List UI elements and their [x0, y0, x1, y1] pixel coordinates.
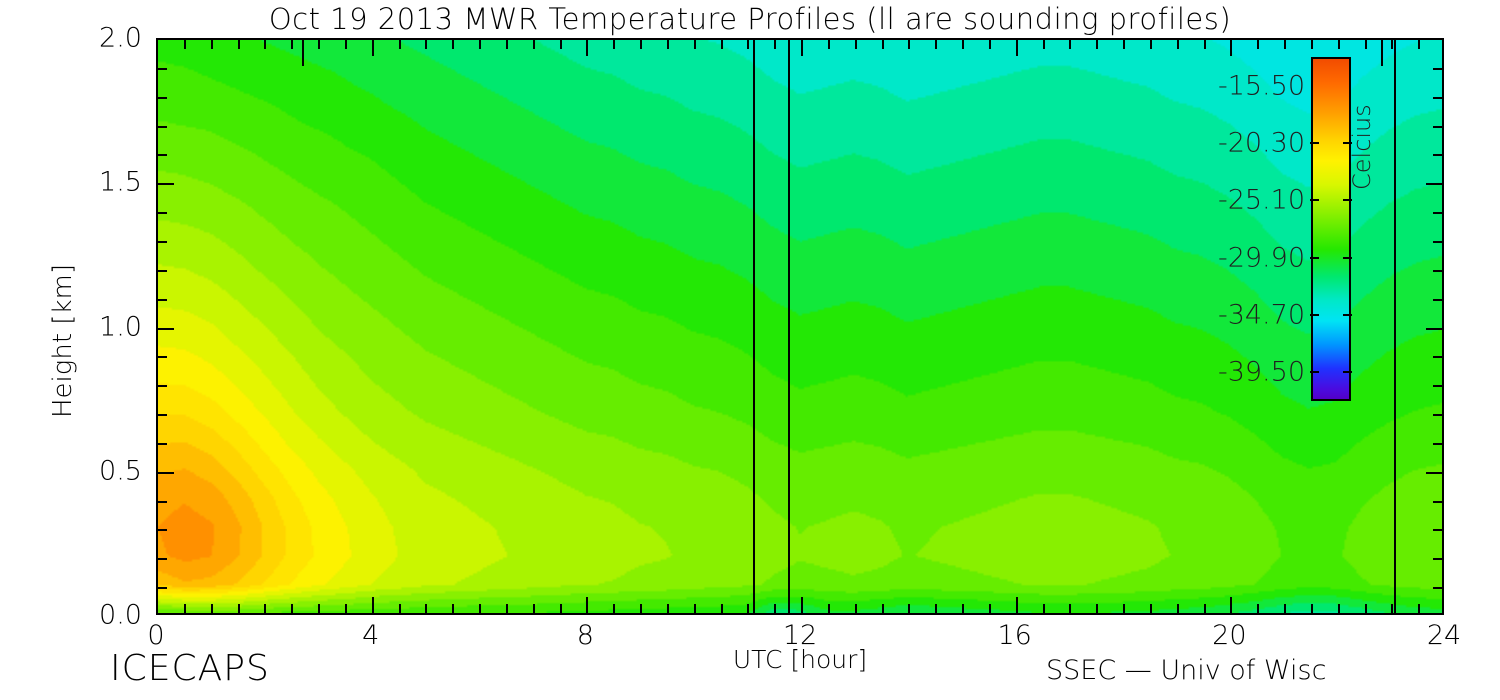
y-tick: [158, 97, 167, 99]
y-tick: [158, 270, 167, 272]
colorbar-tick: [1343, 371, 1352, 373]
x-tick-top: [1365, 40, 1367, 49]
x-tick: [1284, 604, 1286, 613]
x-tick-top: [801, 40, 803, 56]
colorbar: [1311, 57, 1351, 401]
x-tick: [828, 604, 830, 613]
colorbar-tick: [1310, 371, 1319, 373]
y-tick-label: 0.5: [60, 455, 142, 486]
temperature-profile-figure: Oct 19 2013 MWR Temperature Profiles (ll…: [0, 0, 1500, 700]
colorbar-tick-label: -20.30: [1218, 128, 1305, 159]
x-tick: [479, 604, 481, 613]
y-tick-right: [1433, 414, 1442, 416]
sounding-profile: [753, 40, 755, 615]
x-tick-top: [828, 40, 830, 49]
x-tick: [1043, 604, 1045, 613]
x-tick: [962, 604, 964, 613]
y-tick: [158, 587, 167, 589]
y-tick-right: [1433, 299, 1442, 301]
institution-credit: SSEC — Univ of Wisc: [1046, 655, 1326, 686]
y-tick: [158, 385, 167, 387]
x-tick-top: [1016, 40, 1018, 56]
y-tick-right: [1426, 328, 1442, 330]
x-tick-top: [908, 40, 910, 49]
x-tick: [1257, 604, 1259, 613]
x-tick-top: [264, 40, 266, 49]
x-tick: [1418, 604, 1420, 613]
x-tick-top: [452, 40, 454, 49]
x-tick: [640, 604, 642, 613]
x-tick: [238, 604, 240, 613]
colorbar-title: Celcius: [1348, 70, 1376, 190]
y-tick: [158, 183, 174, 185]
x-tick-top: [345, 40, 347, 49]
x-tick-top: [586, 40, 588, 56]
project-label: ICECAPS: [110, 648, 270, 689]
x-tick: [345, 604, 347, 613]
x-tick: [774, 604, 776, 613]
x-tick-top: [694, 40, 696, 49]
sounding-profile: [1394, 40, 1396, 615]
x-tick-top: [425, 40, 427, 49]
x-tick: [1016, 597, 1018, 613]
x-tick-top: [1311, 40, 1313, 49]
x-tick-top: [882, 40, 884, 49]
x-tick: [1150, 604, 1152, 613]
x-tick-top: [1177, 40, 1179, 49]
x-tick-top: [1150, 40, 1152, 49]
x-tick: [1123, 604, 1125, 613]
colorbar-tick: [1310, 314, 1319, 316]
x-tick-top: [1123, 40, 1125, 49]
y-tick: [158, 154, 167, 156]
colorbar-tick: [1310, 257, 1319, 259]
y-tick-label: 1.5: [60, 167, 142, 198]
y-tick: [158, 356, 167, 358]
y-tick: [158, 529, 167, 531]
x-tick-top: [291, 40, 293, 49]
colorbar-tick: [1310, 142, 1319, 144]
x-tick-top: [667, 40, 669, 49]
x-tick-top: [855, 40, 857, 49]
sounding-profile-tick: [302, 40, 304, 66]
x-tick: [372, 597, 374, 613]
sounding-profile: [788, 40, 790, 615]
colorbar-tick-label: -34.70: [1218, 300, 1305, 331]
x-tick-top: [372, 40, 374, 56]
x-tick-top: [1338, 40, 1340, 49]
y-tick-right: [1433, 126, 1442, 128]
colorbar-tick: [1343, 257, 1352, 259]
y-tick: [158, 414, 167, 416]
y-tick: [158, 212, 167, 214]
y-tick: [158, 328, 174, 330]
x-tick-top: [184, 40, 186, 49]
x-tick: [184, 604, 186, 613]
y-tick: [158, 472, 174, 474]
x-tick-top: [1043, 40, 1045, 49]
colorbar-tick-label: -39.50: [1218, 357, 1305, 388]
colorbar-tick: [1343, 199, 1352, 201]
x-tick: [264, 604, 266, 613]
x-tick-top: [989, 40, 991, 49]
x-tick-top: [1257, 40, 1259, 49]
y-tick-label: 0.0: [60, 600, 142, 631]
y-tick-right: [1426, 472, 1442, 474]
y-tick: [158, 443, 167, 445]
y-tick-right: [1433, 529, 1442, 531]
x-tick: [425, 604, 427, 613]
x-tick: [1391, 604, 1393, 613]
y-tick-right: [1433, 443, 1442, 445]
x-tick: [506, 604, 508, 613]
x-tick: [586, 597, 588, 613]
colorbar-tick: [1310, 199, 1319, 201]
y-tick: [158, 299, 167, 301]
x-tick-top: [1230, 40, 1232, 56]
y-tick-right: [1433, 385, 1442, 387]
x-tick-top: [1096, 40, 1098, 49]
x-tick: [1338, 604, 1340, 613]
x-tick: [533, 604, 535, 613]
y-tick: [158, 241, 167, 243]
x-tick: [1177, 604, 1179, 613]
x-tick: [721, 604, 723, 613]
x-tick: [452, 604, 454, 613]
y-tick: [158, 501, 167, 503]
y-tick: [158, 558, 167, 560]
x-tick-top: [479, 40, 481, 49]
x-tick-top: [238, 40, 240, 49]
x-tick: [855, 604, 857, 613]
x-tick: [667, 604, 669, 613]
x-tick-top: [560, 40, 562, 49]
sounding-profile-tick: [1381, 40, 1383, 66]
x-tick-top: [399, 40, 401, 49]
colorbar-gradient: [1311, 57, 1351, 401]
x-tick: [1096, 604, 1098, 613]
x-tick-top: [962, 40, 964, 49]
x-tick: [613, 604, 615, 613]
y-tick-right: [1433, 154, 1442, 156]
x-tick-top: [533, 40, 535, 49]
x-tick: [935, 604, 937, 613]
y-tick-right: [1433, 356, 1442, 358]
y-axis-title: Height [km]: [48, 226, 78, 456]
y-tick-right: [1433, 97, 1442, 99]
y-tick-right: [1433, 270, 1442, 272]
x-tick: [211, 604, 213, 613]
x-tick: [399, 604, 401, 613]
x-tick-top: [1069, 40, 1071, 49]
colorbar-tick-label: -15.50: [1218, 70, 1305, 101]
y-tick-right: [1433, 501, 1442, 503]
page-title: Oct 19 2013 MWR Temperature Profiles (ll…: [0, 2, 1500, 36]
x-tick: [694, 604, 696, 613]
x-tick-top: [506, 40, 508, 49]
y-tick-right: [1426, 183, 1442, 185]
y-tick: [158, 126, 167, 128]
x-tick-top: [613, 40, 615, 49]
y-tick-right: [1433, 587, 1442, 589]
x-tick: [908, 604, 910, 613]
x-tick-top: [640, 40, 642, 49]
colorbar-tick: [1343, 314, 1352, 316]
y-tick-right: [1433, 212, 1442, 214]
x-tick: [1069, 604, 1071, 613]
x-tick-top: [774, 40, 776, 49]
x-tick-top: [1391, 40, 1393, 49]
x-tick-top: [721, 40, 723, 49]
x-tick: [1230, 597, 1232, 613]
x-tick: [989, 604, 991, 613]
x-tick-top: [935, 40, 937, 49]
y-tick-label: 2.0: [60, 23, 142, 54]
x-tick: [318, 604, 320, 613]
x-tick: [1365, 604, 1367, 613]
x-tick: [747, 604, 749, 613]
x-tick-top: [747, 40, 749, 49]
colorbar-tick-label: -29.90: [1218, 242, 1305, 273]
x-tick: [291, 604, 293, 613]
y-tick-right: [1433, 241, 1442, 243]
x-tick: [801, 597, 803, 613]
x-tick: [1311, 604, 1313, 613]
y-tick-right: [1433, 558, 1442, 560]
colorbar-tick-label: -25.10: [1218, 185, 1305, 216]
y-tick: [158, 68, 167, 70]
y-tick-right: [1433, 68, 1442, 70]
x-tick-top: [1418, 40, 1420, 49]
x-tick-top: [211, 40, 213, 49]
x-tick: [560, 604, 562, 613]
x-tick: [882, 604, 884, 613]
x-tick-top: [1204, 40, 1206, 49]
x-tick-top: [1284, 40, 1286, 49]
x-tick-top: [318, 40, 320, 49]
x-tick: [1204, 604, 1206, 613]
